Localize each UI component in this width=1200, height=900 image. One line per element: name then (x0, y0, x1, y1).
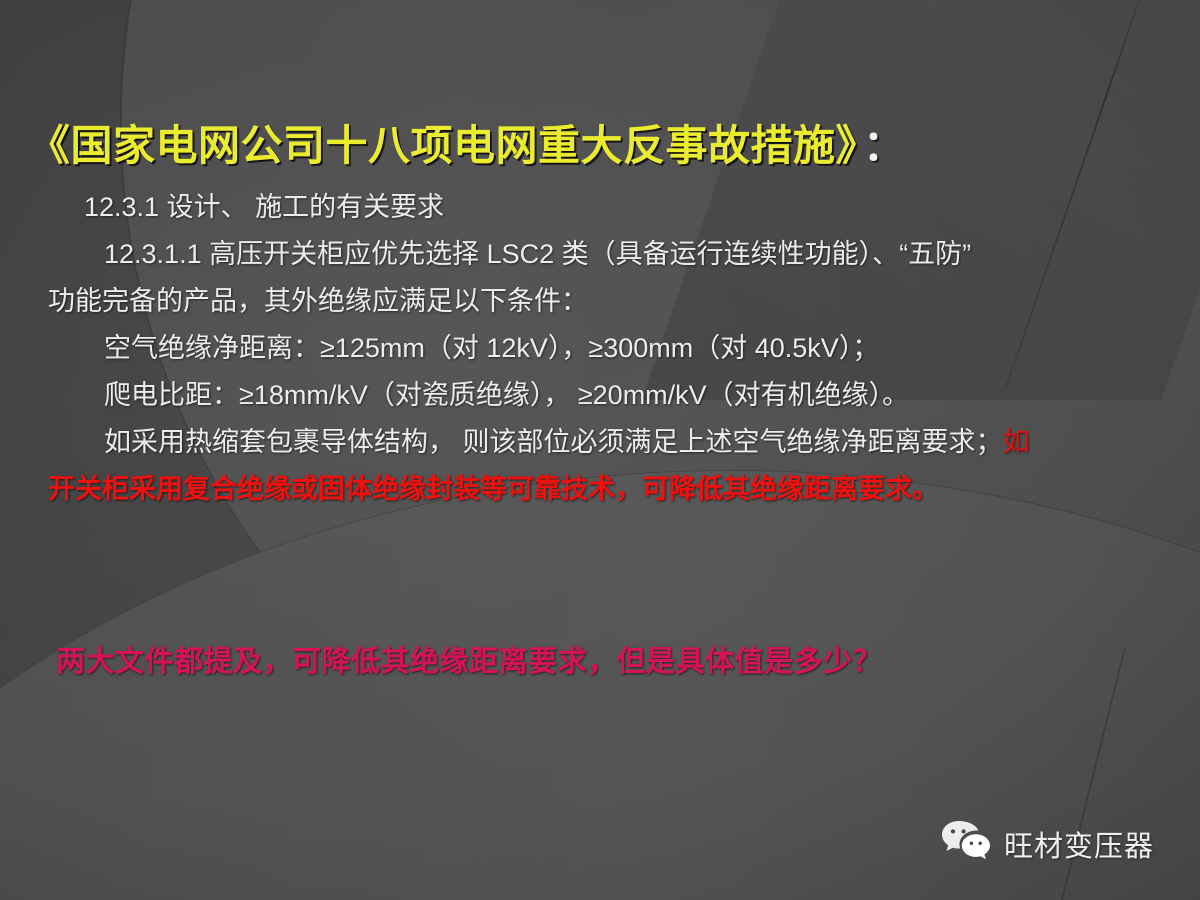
body-line-air-clearance: 空气绝缘净距离：≥125mm（对 12kV），≥300mm（对 40.5kV）； (48, 325, 1168, 372)
body-line-mixed-red: 如 (1003, 427, 1030, 457)
slide-content: 《国家电网公司十八项电网重大反事故措施》： 12.3.1 设计、 施工的有关要求… (0, 0, 1200, 900)
wechat-icon (940, 819, 992, 868)
body-line-red-emphasis: 开关柜采用复合绝缘或固体绝缘封装等可靠技术，可降低其绝缘距离要求。 (48, 466, 1168, 513)
presentation-slide: 《国家电网公司十八项电网重大反事故措施》： 12.3.1 设计、 施工的有关要求… (0, 0, 1200, 900)
watermark-label: 旺材变压器 (1004, 823, 1154, 865)
watermark: 旺材变压器 (940, 819, 1154, 868)
body-line-mixed-white: 如采用热缩套包裹导体结构， 则该部位必须满足上述空气绝缘净距离要求； (104, 427, 1003, 457)
question-callout: 两大文件都提及，可降低其绝缘距离要求，但是具体值是多少？ (56, 638, 882, 680)
slide-title-text: 《国家电网公司十八项电网重大反事故措施》 (28, 122, 857, 169)
body-line-creepage-distance: 爬电比距：≥18mm/kV（对瓷质绝缘）， ≥20mm/kV（对有机绝缘）。 (48, 372, 1168, 419)
body-line-mixed: 如采用热缩套包裹导体结构， 则该部位必须满足上述空气绝缘净距离要求；如 (48, 419, 1168, 466)
slide-body: 12.3.1 设计、 施工的有关要求 12.3.1.1 高压开关柜应优先选择 L… (48, 184, 1168, 513)
slide-title: 《国家电网公司十八项电网重大反事故措施》： (28, 112, 906, 173)
body-line-3: 功能完备的产品，其外绝缘应满足以下条件： (48, 278, 1168, 325)
body-line-2: 12.3.1.1 高压开关柜应优先选择 LSC2 类（具备运行连续性功能）、“五… (48, 231, 1168, 278)
body-line-1: 12.3.1 设计、 施工的有关要求 (48, 184, 1168, 231)
slide-title-colon: ： (863, 122, 906, 169)
